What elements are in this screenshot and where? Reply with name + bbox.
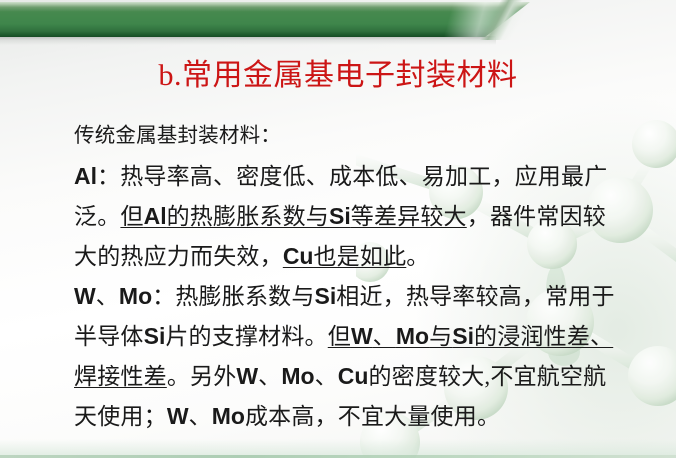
title-bar-bevel: [0, 2, 530, 37]
text-run: W: [74, 283, 96, 309]
page-title: b.常用金属基电子封装材料: [0, 56, 676, 96]
underlined-text-run: 焊接性差: [74, 364, 167, 389]
text-run: 泛。: [74, 204, 120, 229]
text-run: 天使用；: [74, 404, 167, 429]
underlined-text-run: 也是如此: [313, 244, 406, 269]
body-line: 泛。但Al的热膨胀系数与Si等差异较大，器件常因较: [74, 196, 634, 236]
text-run: ：热膨胀系数与: [152, 284, 314, 309]
body-line: W、Mo：热膨胀系数与Si相近，热导率较高，常用于: [74, 276, 634, 316]
body-line: 大的热应力而失效，Cu也是如此。: [74, 236, 634, 276]
text-run: 大的热应力而失效，: [74, 244, 283, 269]
text-run: Si: [315, 283, 337, 309]
slide-canvas: b.常用金属基电子封装材料 传统金属基封装材料：Al：热导率高、密度低、成本低、…: [0, 0, 676, 458]
underlined-text-run: 、: [373, 324, 396, 349]
underlined-text-run: Al: [144, 203, 167, 229]
underlined-text-run: 与: [429, 324, 452, 349]
text-run: 、: [96, 284, 119, 309]
text-run: ，器件常因较: [467, 204, 606, 229]
text-run: 相近，热导率较高，常用于: [336, 284, 614, 309]
underlined-text-run: Si: [329, 203, 351, 229]
text-run: 。另外: [167, 364, 237, 389]
underlined-text-run: 等差异较大: [351, 204, 467, 229]
title-bar-shadow: [0, 36, 496, 45]
underlined-text-run: 但: [328, 324, 351, 349]
text-run: Cu: [338, 363, 369, 389]
text-run: W: [236, 363, 258, 389]
text-run: 半导体: [74, 324, 144, 349]
text-run: W: [167, 403, 189, 429]
text-run: Mo: [119, 283, 152, 309]
text-run: Mo: [281, 363, 314, 389]
underlined-text-run: Si: [452, 323, 474, 349]
text-run: 片的支撑材料。: [165, 324, 327, 349]
text-run: 、: [189, 404, 212, 429]
body-line: Al：热导率高、密度低、成本低、易加工，应用最广: [74, 156, 634, 196]
body-text-block: 传统金属基封装材料：Al：热导率高、密度低、成本低、易加工，应用最广泛。但Al的…: [74, 116, 634, 436]
text-run: 成本高，不宜大量使用。: [245, 404, 500, 429]
text-run: ：热导率高、密度低、成本低、易加工，应用最广: [97, 164, 607, 189]
title-bar-decoration: [0, 0, 676, 46]
text-run: 传统金属基封装材料：: [74, 125, 281, 147]
text-run: Al: [74, 163, 97, 189]
underlined-text-run: 的热膨胀系数与: [167, 204, 329, 229]
body-line: 焊接性差。另外W、Mo、Cu的密度较大,不宜航空航: [74, 356, 634, 396]
underlined-text-run: Cu: [283, 243, 314, 269]
text-run: Mo: [212, 403, 245, 429]
text-run: 。: [406, 244, 429, 269]
body-line: 传统金属基封装材料：: [74, 116, 634, 156]
text-run: 、: [258, 364, 281, 389]
underlined-text-run: 的浸润性差、: [474, 324, 613, 349]
underlined-text-run: W: [351, 323, 373, 349]
title-bar-diagonal-highlight: [466, 0, 536, 40]
text-run: 的密度较大,不宜航空航: [368, 364, 606, 389]
body-line: 天使用；W、Mo成本高，不宜大量使用。: [74, 396, 634, 436]
body-line: 半导体Si片的支撑材料。但W、Mo与Si的浸润性差、: [74, 316, 634, 356]
underlined-text-run: 但: [120, 204, 143, 229]
underlined-text-run: Mo: [396, 323, 429, 349]
bottom-fade: [0, 439, 676, 455]
text-run: 、: [315, 364, 338, 389]
text-run: Si: [144, 323, 166, 349]
